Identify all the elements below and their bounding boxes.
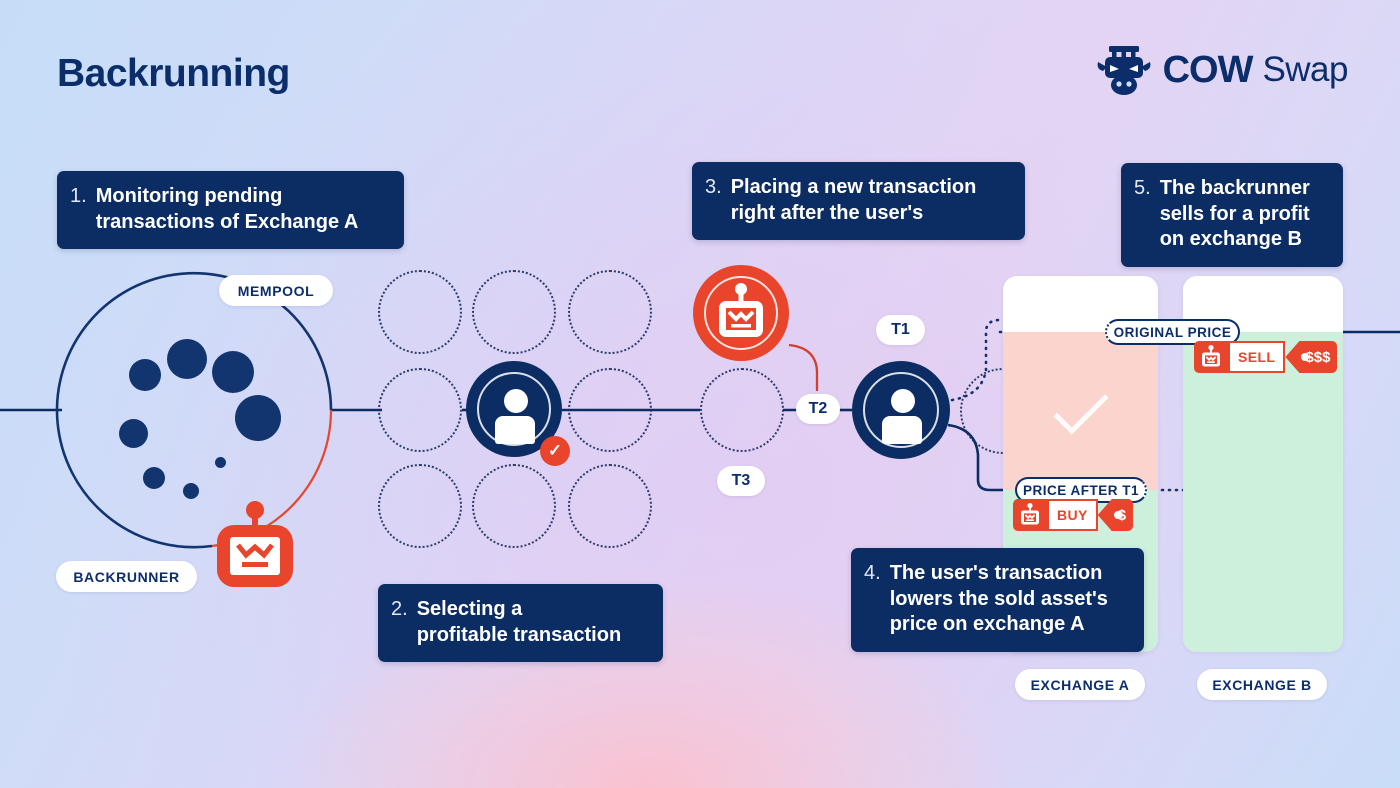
red-link-robot-to-t2 xyxy=(789,345,817,391)
logo-word-swap: Swap xyxy=(1262,50,1348,90)
step-2: 2. Selecting a profitable transaction xyxy=(378,584,663,662)
backrunner-robot-node[interactable] xyxy=(693,265,789,361)
diagram-canvas: Backrunning COW Swap xyxy=(0,0,1400,788)
sell-price-tag[interactable]: SELL $$$ xyxy=(1194,341,1337,373)
user-tx-avatar[interactable] xyxy=(852,361,950,459)
pending-tx-slot xyxy=(568,270,652,354)
step-3-number: 3. xyxy=(705,175,722,201)
pending-tx-slot xyxy=(568,464,652,548)
tx-marker-t1: T1 xyxy=(876,315,925,345)
step-1: 1. Monitoring pending transactions of Ex… xyxy=(57,171,404,249)
mempool-tx-dot xyxy=(215,457,226,468)
step-5: 5. The backrunner sells for a profit on … xyxy=(1121,163,1343,267)
selected-check-icon: ✓ xyxy=(540,436,570,466)
step-1-number: 1. xyxy=(70,184,87,210)
logo-word-cow: COW xyxy=(1163,49,1253,92)
step-3-text: Placing a new transaction right after th… xyxy=(731,175,977,226)
avatar-body xyxy=(882,416,922,444)
pending-tx-slot xyxy=(378,464,462,548)
step-4-number: 4. xyxy=(864,561,881,587)
sell-tag-label: SELL xyxy=(1228,341,1285,373)
robot-icon xyxy=(1013,499,1047,531)
pending-tx-slot xyxy=(378,368,462,452)
step-3: 3. Placing a new transaction right after… xyxy=(692,162,1025,240)
step-4-text: The user's transaction lowers the sold a… xyxy=(890,561,1108,638)
step-1-text: Monitoring pending transactions of Excha… xyxy=(96,184,359,235)
tx-marker-t3: T3 xyxy=(717,466,765,496)
step-2-text: Selecting a profitable transaction xyxy=(417,597,621,648)
mempool-tx-dot xyxy=(235,395,281,441)
step-5-number: 5. xyxy=(1134,176,1151,202)
tag-hole-icon xyxy=(1301,353,1309,361)
pending-tx-slot xyxy=(472,464,556,548)
pending-tx-slot xyxy=(568,368,652,452)
pending-tx-slot xyxy=(378,270,462,354)
buy-price-tag[interactable]: BUY $ xyxy=(1013,499,1133,531)
pending-tx-slot xyxy=(700,368,784,452)
cow-head-icon xyxy=(1095,44,1153,96)
cowswap-logo: COW Swap xyxy=(1095,44,1348,96)
mempool-label: MEMPOOL xyxy=(219,275,333,306)
exchange-a-label: EXCHANGE A xyxy=(1015,669,1145,700)
tag-hole-icon xyxy=(1114,511,1122,519)
avatar-head xyxy=(504,389,528,413)
robot-node-ring xyxy=(704,276,778,350)
page-title: Backrunning xyxy=(57,52,290,96)
mempool-tx-dot xyxy=(119,419,148,448)
step-2-number: 2. xyxy=(391,597,408,623)
avatar-body xyxy=(495,416,535,444)
buy-tag-label: BUY xyxy=(1047,499,1098,531)
avatar-head xyxy=(891,389,915,413)
backrunner-label: BACKRUNNER xyxy=(56,561,197,592)
exchange-b-band xyxy=(1183,332,1343,652)
step-5-text: The backrunner sells for a profit on exc… xyxy=(1160,176,1310,253)
tx-marker-t2: T2 xyxy=(796,394,840,424)
mempool-tx-dot xyxy=(212,351,254,393)
pending-tx-slot xyxy=(472,270,556,354)
step-4: 4. The user's transaction lowers the sol… xyxy=(851,548,1144,652)
mempool-tx-dot xyxy=(167,339,207,379)
mempool-tx-dot xyxy=(183,483,199,499)
robot-icon xyxy=(1194,341,1228,373)
exchange-b-label: EXCHANGE B xyxy=(1197,669,1327,700)
sell-tag-amount-shape: $$$ xyxy=(1285,341,1337,373)
mempool-tx-dot xyxy=(143,467,165,489)
mempool-tx-dot xyxy=(129,359,161,391)
buy-tag-amount-shape: $ xyxy=(1098,499,1133,531)
backrunner-robot-icon xyxy=(217,501,293,587)
